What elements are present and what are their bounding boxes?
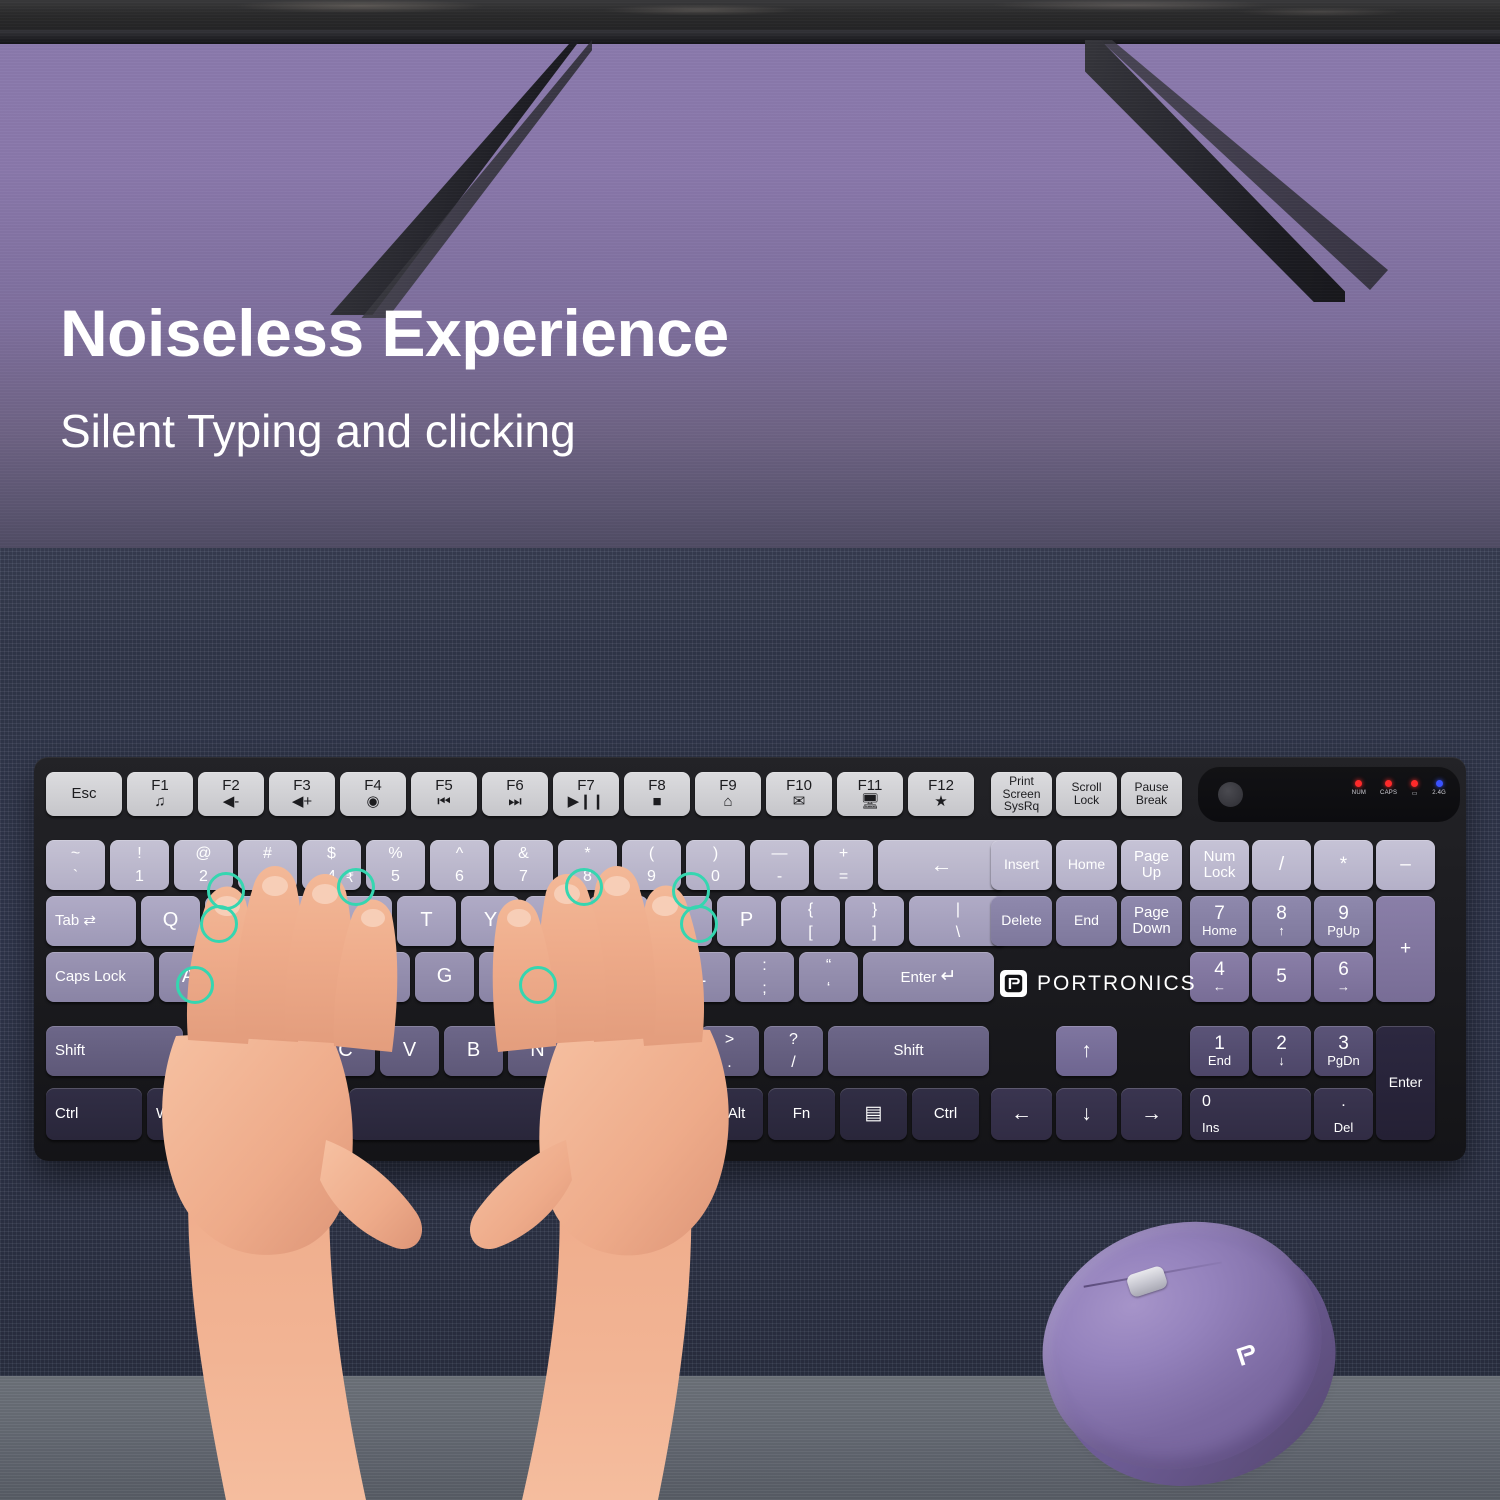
key-label: Shift (55, 1043, 85, 1059)
key-ctrl-right[interactable]: Ctrl (912, 1088, 979, 1140)
key-page-up[interactable]: PageUp (1121, 840, 1182, 890)
key-numpad-1[interactable]: 1End (1190, 1026, 1249, 1076)
key-f4[interactable]: F4◉ (340, 772, 406, 816)
key-numpad-4[interactable]: 4← (1190, 952, 1249, 1002)
key-numpad-minus[interactable]: – (1376, 840, 1435, 890)
led-num: NUM (1352, 780, 1366, 797)
key-label-number: 6 (1338, 960, 1349, 981)
key-label: * (1340, 855, 1347, 876)
arrow-right-icon: → (1141, 1103, 1162, 1126)
led-dot (1411, 780, 1418, 787)
key-label: Tab ⇄ (55, 913, 96, 929)
key-label: / (1279, 855, 1284, 876)
key-label-number: 3 (1338, 1034, 1349, 1055)
key-label-sub: Down (1132, 921, 1170, 937)
monitor-leg-right (1085, 40, 1345, 302)
key-arrow-up[interactable]: ↑ (1056, 1026, 1117, 1076)
key-label-top: Page (1134, 849, 1169, 865)
key-f10[interactable]: F10✉ (766, 772, 832, 816)
key-f1[interactable]: F1♫ (127, 772, 193, 816)
monitor-leg-left-highlight (330, 40, 592, 318)
key-label-sub: ⏮ (437, 794, 451, 810)
key-f5[interactable]: F5⏮ (411, 772, 477, 816)
key-label-top: F6 (506, 778, 524, 794)
led-dot (1385, 780, 1392, 787)
key-label-top: Num (1204, 849, 1236, 865)
key-home[interactable]: Home (1056, 840, 1117, 890)
key-f6[interactable]: F6⏭ (482, 772, 548, 816)
key-print[interactable]: PrintScreenSysRq (991, 772, 1052, 816)
touch-ring (176, 966, 214, 1004)
key-label-number: 8 (1276, 904, 1287, 925)
key-numpad-8[interactable]: 8↑ (1252, 896, 1311, 946)
key-label-top: Esc (71, 786, 96, 802)
key-delete[interactable]: Delete (991, 896, 1052, 946)
key-tilde[interactable]: ~` (46, 840, 105, 890)
shelf-edge (0, 30, 1500, 44)
key-label-mid: Break (1136, 794, 1167, 807)
key-label-sub: Up (1142, 865, 1161, 881)
key-label-top: F10 (786, 778, 812, 794)
hands-typing (130, 840, 890, 1500)
indicator-panel: NUMCAPS▭2.4G (1198, 766, 1460, 822)
key-label-sub: ■ (652, 794, 661, 810)
power-button[interactable] (1218, 782, 1243, 807)
key-label-sub: ▶❙❙ (568, 794, 605, 810)
key-label-number: 4 (1214, 960, 1225, 981)
monitor-leg-right-highlight (1100, 40, 1400, 290)
key-label-sub: End (1208, 1054, 1231, 1068)
key-label-sub: SysRq (1004, 800, 1039, 813)
key-backspace[interactable]: ← (878, 840, 1005, 890)
brand-name: PORTRONICS (1037, 972, 1197, 996)
key-ctrl-left[interactable]: Ctrl (46, 1088, 142, 1140)
enter-arrow-icon: ↵ (941, 966, 957, 987)
shelf-grain (0, 0, 1500, 22)
key-label-sub: ♫ (154, 794, 165, 810)
key-label-top: F2 (222, 778, 240, 794)
key-label-number: 9 (1338, 904, 1349, 925)
led-2-4g: 2.4G (1432, 780, 1446, 797)
key-numpad-3[interactable]: 3PgDn (1314, 1026, 1373, 1076)
monitor-leg-left (330, 40, 580, 315)
backspace-icon: ← (931, 853, 953, 877)
wall-background (0, 0, 1500, 555)
key-insert[interactable]: Insert (991, 840, 1052, 890)
key-label-top: F9 (719, 778, 737, 794)
led-label: NUM (1352, 790, 1366, 796)
key-label-top: Page (1134, 905, 1169, 921)
key-label-sub: ↑ (1278, 924, 1285, 938)
led-indicators: NUMCAPS▭2.4G (1352, 780, 1446, 797)
key-label-number: 0 (1202, 1093, 1311, 1110)
key-label-sub: ✉ (793, 794, 806, 810)
key-label: Enter (1389, 1075, 1422, 1090)
key-label-number: 1 (1214, 1034, 1225, 1055)
tab-icon: ⇄ (83, 912, 96, 929)
key-label-top: F4 (364, 778, 382, 794)
key-label-top: F11 (858, 778, 883, 794)
key-label-sub: PgDn (1327, 1054, 1360, 1068)
key-label: Shift (893, 1043, 923, 1059)
key-label-sub: ↓ (1278, 1054, 1285, 1068)
touch-ring (519, 966, 557, 1004)
monitor-shelf (0, 0, 1500, 36)
key-label-sub: Home (1202, 924, 1237, 938)
key-label-sub: 🖥 (860, 794, 879, 810)
key-num-lock[interactable]: NumLock (1190, 840, 1249, 890)
key-label-top: F3 (293, 778, 311, 794)
key-label-sub: ⌂ (723, 794, 732, 810)
key-label: Caps Lock (55, 969, 126, 985)
led-battery-icon: ▭ (1411, 780, 1418, 797)
key-page-down[interactable]: PageDown (1121, 896, 1182, 946)
key-numpad-multiply[interactable]: * (1314, 840, 1373, 890)
key-numpad-decimal[interactable]: .Del (1314, 1088, 1373, 1140)
key-label-lower: ` (46, 868, 105, 885)
touch-ring (565, 868, 603, 906)
key-label-sub: ◀- (223, 794, 240, 810)
key-numpad-enter[interactable]: Enter (1376, 1026, 1435, 1140)
portronics-p-icon (1000, 970, 1027, 997)
key-label-top: F5 (435, 778, 453, 794)
key-f9[interactable]: F9⌂ (695, 772, 761, 816)
key-label-sub: → (1337, 980, 1350, 994)
touch-ring (207, 872, 245, 910)
touch-ring (672, 872, 710, 910)
key-label-mid: Lock (1074, 794, 1099, 807)
arrow-up-icon: ↑ (1081, 1040, 1092, 1063)
key-label-number: . (1314, 1093, 1373, 1110)
key-numpad-2[interactable]: 2↓ (1252, 1026, 1311, 1076)
key-label: Insert (1004, 857, 1039, 872)
key-label: – (1400, 855, 1411, 876)
key-pause[interactable]: PauseBreak (1121, 772, 1182, 816)
key-label-sub: ◀+ (292, 794, 312, 810)
key-label-top: F8 (648, 778, 666, 794)
key-label-sub: Del (1314, 1121, 1373, 1135)
key-label-sub: ★ (934, 794, 947, 810)
touch-ring (680, 905, 718, 943)
key-numpad-5[interactable]: 5 (1252, 952, 1311, 1002)
key-arrow-down[interactable]: ↓ (1056, 1088, 1117, 1140)
key-label: Ctrl (55, 1106, 78, 1122)
key-label-sub: Lock (1204, 865, 1236, 881)
led-dot (1436, 780, 1443, 787)
key-scroll[interactable]: ScrollLock (1056, 772, 1117, 816)
subheadline: Silent Typing and clicking (60, 408, 576, 454)
led-label: CAPS (1380, 790, 1397, 796)
key-label-number: 5 (1276, 967, 1287, 988)
key-label-sub: ◉ (366, 794, 379, 810)
key-label-number: 2 (1276, 1034, 1287, 1055)
key-arrow-right[interactable]: → (1121, 1088, 1182, 1140)
key-label: + (1400, 939, 1411, 960)
wireless-mouse[interactable] (1036, 1212, 1352, 1500)
key-numpad-0[interactable]: 0Ins (1190, 1088, 1311, 1140)
key-f7[interactable]: F7▶❙❙ (553, 772, 619, 816)
touch-ring (200, 905, 238, 943)
key-label-top: F7 (577, 778, 595, 794)
led-label: 2.4G (1432, 790, 1446, 796)
key-label-sub: Ins (1202, 1121, 1311, 1135)
headline: Noiseless Experience (60, 300, 729, 366)
key-label: Delete (1001, 913, 1041, 928)
key-f2[interactable]: F2◀- (198, 772, 264, 816)
key-numpad-9[interactable]: 9PgUp (1314, 896, 1373, 946)
arrow-down-icon: ↓ (1081, 1103, 1092, 1126)
key-label-sub: ⏭ (508, 794, 522, 810)
key-label-sub: PgUp (1327, 924, 1360, 938)
key-numpad-plus[interactable]: + (1376, 896, 1435, 1002)
key-numpad-divide[interactable]: / (1252, 840, 1311, 890)
key-arrow-left[interactable]: ← (991, 1088, 1052, 1140)
key-label-sub: ← (1213, 980, 1226, 994)
keyboard-brand: PORTRONICS (1000, 970, 1197, 997)
key-label: Ctrl (934, 1106, 957, 1122)
led-label: ▭ (1412, 790, 1418, 797)
key-label: End (1074, 913, 1099, 928)
key-label-top: F12 (928, 778, 954, 794)
touch-ring (337, 868, 375, 906)
led-dot (1355, 780, 1362, 787)
key-f11[interactable]: F11🖥 (837, 772, 903, 816)
key-numpad-7[interactable]: 7Home (1190, 896, 1249, 946)
product-marketing-image: Noiseless Experience Silent Typing and c… (0, 0, 1500, 1500)
arrow-left-icon: ← (1011, 1103, 1032, 1126)
led-caps: CAPS (1380, 780, 1397, 797)
key-f8[interactable]: F8■ (624, 772, 690, 816)
key-esc[interactable]: Esc (46, 772, 122, 816)
key-label: Home (1068, 857, 1105, 872)
key-end[interactable]: End (1056, 896, 1117, 946)
key-f12[interactable]: F12★ (908, 772, 974, 816)
key-label-upper: ~ (46, 845, 105, 862)
key-f3[interactable]: F3◀+ (269, 772, 335, 816)
key-label-number: 7 (1214, 904, 1225, 925)
key-numpad-6[interactable]: 6→ (1314, 952, 1373, 1002)
key-label-top: Print (1009, 775, 1034, 788)
key-label: Enter ↵ (901, 967, 957, 988)
key-label-top: F1 (151, 778, 169, 794)
key-tab[interactable]: Tab ⇄ (46, 896, 136, 946)
